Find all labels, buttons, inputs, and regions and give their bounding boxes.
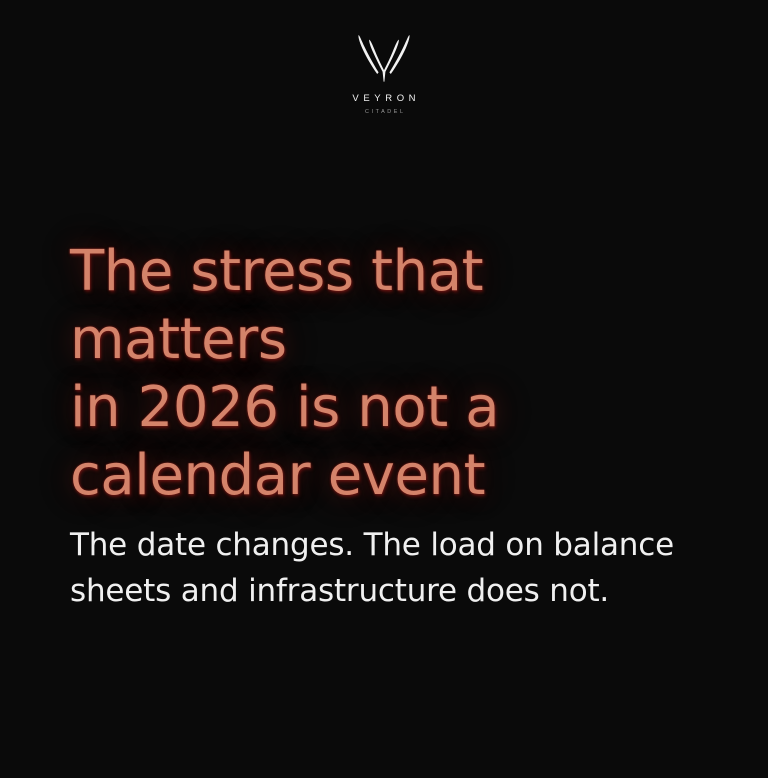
copy-block: The stress that matters in 2026 is not a… [70, 238, 710, 614]
brand-lockup: VEYRON CITADEL [0, 33, 768, 115]
subheadline: The date changes. The load on balance sh… [70, 522, 710, 614]
veyron-wing-mark-icon [352, 33, 416, 85]
headline: The stress that matters in 2026 is not a… [70, 238, 710, 510]
brand-subname: CITADEL [362, 110, 405, 115]
social-card-canvas: VEYRON CITADEL The stress that matters i… [0, 0, 768, 778]
brand-name: VEYRON [348, 94, 420, 104]
